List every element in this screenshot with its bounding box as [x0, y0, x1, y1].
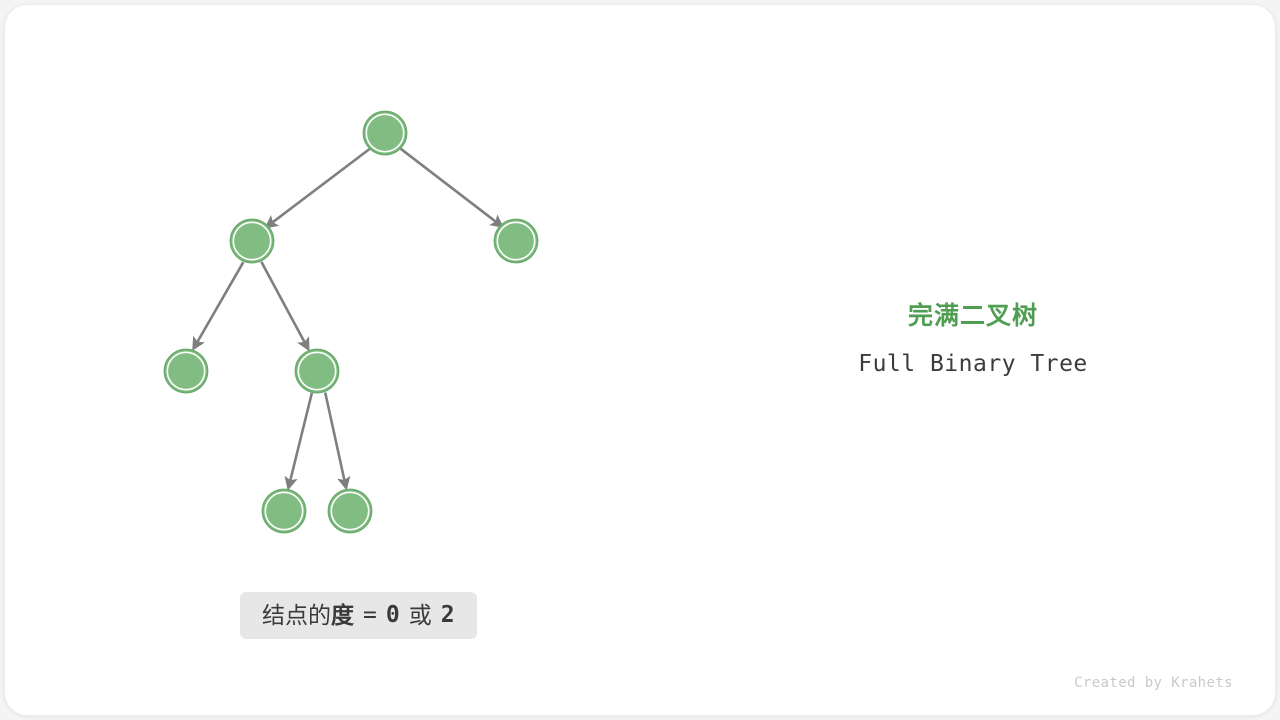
tree-nodes — [165, 112, 538, 533]
tree-node-n3[interactable] — [495, 220, 538, 263]
caption-text-zero: 0 — [386, 604, 400, 627]
degree-caption-pill: 结点的度=0或2 — [240, 592, 477, 639]
edge-n1-n2 — [266, 149, 370, 227]
tree-edges — [193, 149, 502, 489]
credit-label: Created by Krahets — [1074, 675, 1233, 691]
edge-n5-n6 — [288, 393, 312, 489]
tree-node-n7[interactable] — [329, 490, 372, 533]
tree-node-n4[interactable] — [165, 350, 208, 393]
illustration-card: 完满二叉树 Full Binary Tree 结点的度=0或2 Created … — [5, 5, 1275, 715]
screenshot-canvas: 完满二叉树 Full Binary Tree 结点的度=0或2 Created … — [0, 0, 1280, 720]
tree-node-n2[interactable] — [231, 220, 274, 263]
legend-block: 完满二叉树 Full Binary Tree — [773, 299, 1173, 379]
caption-text-equals: = — [363, 604, 377, 627]
edge-n5-n7 — [325, 393, 346, 489]
edge-n2-n4 — [193, 262, 243, 349]
legend-title-cn: 完满二叉树 — [773, 299, 1173, 333]
caption-text-two: 2 — [441, 604, 455, 627]
caption-text-degree: 度 — [331, 604, 354, 627]
legend-title-en: Full Binary Tree — [773, 349, 1173, 379]
tree-node-n1[interactable] — [364, 112, 407, 155]
edge-n1-n3 — [401, 149, 503, 227]
caption-text-or: 或 — [409, 604, 432, 627]
tree-node-n6[interactable] — [263, 490, 306, 533]
caption-text-part1: 结点的 — [262, 604, 331, 627]
edge-n2-n5 — [261, 262, 308, 350]
tree-node-n5[interactable] — [296, 350, 339, 393]
